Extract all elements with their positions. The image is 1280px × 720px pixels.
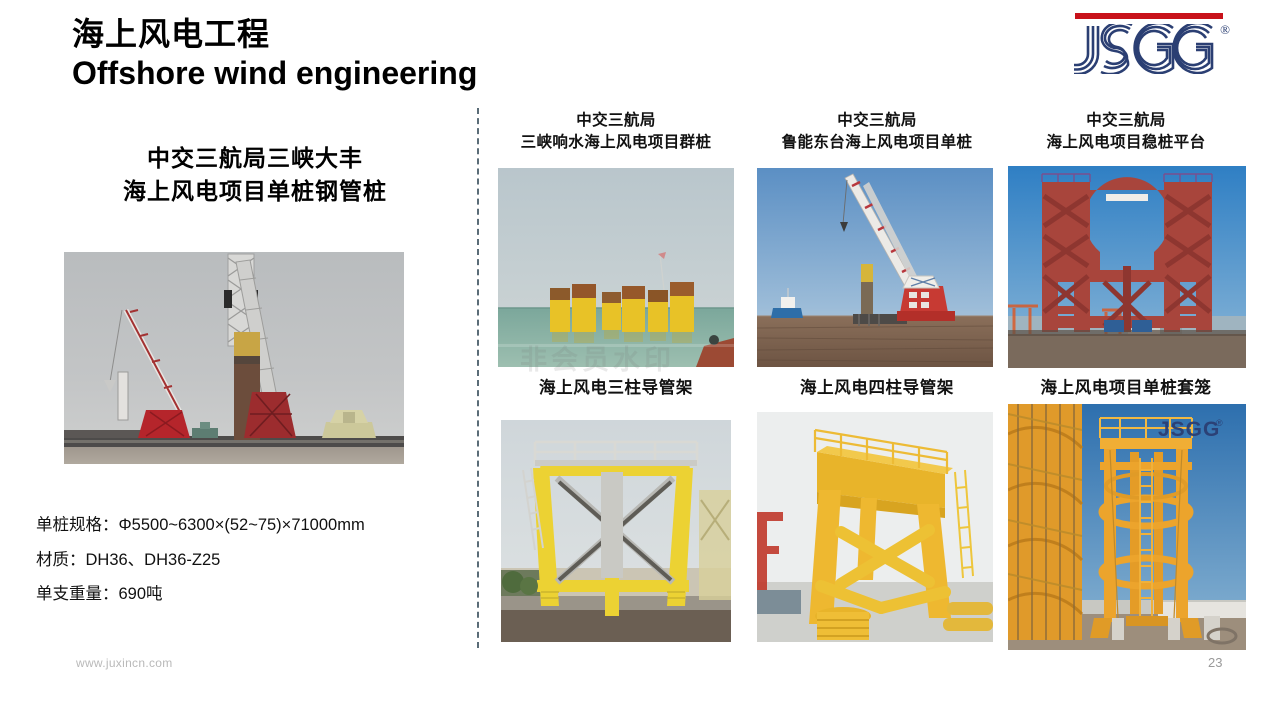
caption-line1: 中交三航局 bbox=[494, 110, 738, 132]
monopile-spec-list: 单桩规格：Φ5500~6300×(52~75)×71000mm 材质：DH36、… bbox=[36, 508, 456, 612]
footer-website-url: www.juxincn.com bbox=[76, 656, 173, 670]
monopile-steel-pipe-pile-photo bbox=[64, 252, 404, 464]
vertical-dashed-divider bbox=[477, 108, 479, 648]
page-title-chinese: 海上风电工程 bbox=[72, 14, 772, 54]
left-project-caption-line2: 海上风电项目单桩钢管桩 bbox=[60, 175, 450, 208]
caption-line1: 中交三航局 bbox=[1004, 110, 1248, 132]
caption-line1: 海上风电项目单桩套笼 bbox=[1004, 378, 1248, 399]
spec-weight: 单支重量：690吨 bbox=[36, 577, 456, 612]
three-leg-jacket-photo bbox=[501, 420, 731, 642]
left-project-caption-line1: 中交三航局三峡大丰 bbox=[60, 142, 450, 175]
gallery-caption-gripper-platform: 中交三航局 海上风电项目稳桩平台 bbox=[1004, 110, 1248, 154]
registered-trademark-icon: ® bbox=[1220, 22, 1230, 38]
caption-line1: 海上风电三柱导管架 bbox=[494, 378, 738, 399]
jsgg-logo: ® bbox=[1070, 10, 1232, 82]
gallery-caption-pile-group: 中交三航局 三峡响水海上风电项目群桩 bbox=[494, 110, 738, 154]
caption-line1: 海上风电四柱导管架 bbox=[752, 378, 1002, 399]
logo-wordmark-icon bbox=[1070, 24, 1232, 74]
monopile-cage-photo: JSGG ® bbox=[1008, 404, 1246, 650]
gallery-caption-three-leg-jacket: 海上风电三柱导管架 bbox=[494, 378, 738, 399]
luneng-dongtai-monopile-photo bbox=[757, 168, 993, 367]
xiangshui-pile-group-photo bbox=[498, 168, 734, 367]
spec-dimension: 单桩规格：Φ5500~6300×(52~75)×71000mm bbox=[36, 508, 456, 543]
spec-material: 材质：DH36、DH36-Z25 bbox=[36, 543, 456, 578]
caption-line1: 中交三航局 bbox=[752, 110, 1002, 132]
footer-page-number: 23 bbox=[1208, 655, 1222, 670]
gallery-caption-monopile-cage: 海上风电项目单桩套笼 bbox=[1004, 378, 1248, 399]
svg-text:JSGG: JSGG bbox=[1158, 418, 1220, 441]
left-project-caption: 中交三航局三峡大丰 海上风电项目单桩钢管桩 bbox=[60, 142, 450, 209]
gallery-caption-luneng-monopile: 中交三航局 鲁能东台海上风电项目单桩 bbox=[752, 110, 1002, 154]
gallery-caption-four-leg-jacket: 海上风电四柱导管架 bbox=[752, 378, 1002, 399]
svg-text:®: ® bbox=[1216, 418, 1223, 428]
four-leg-jacket-photo bbox=[757, 412, 993, 642]
page-title: 海上风电工程 Offshore wind engineering bbox=[72, 14, 772, 93]
pile-gripper-platform-photo bbox=[1008, 166, 1246, 368]
slide-root: 海上风电工程 Offshore wind engineering bbox=[0, 0, 1280, 720]
caption-line2: 三峡响水海上风电项目群桩 bbox=[494, 132, 738, 154]
caption-line2: 鲁能东台海上风电项目单桩 bbox=[752, 132, 1002, 154]
logo-red-bar bbox=[1075, 13, 1223, 19]
page-title-english: Offshore wind engineering bbox=[72, 54, 772, 93]
caption-line2: 海上风电项目稳桩平台 bbox=[1004, 132, 1248, 154]
